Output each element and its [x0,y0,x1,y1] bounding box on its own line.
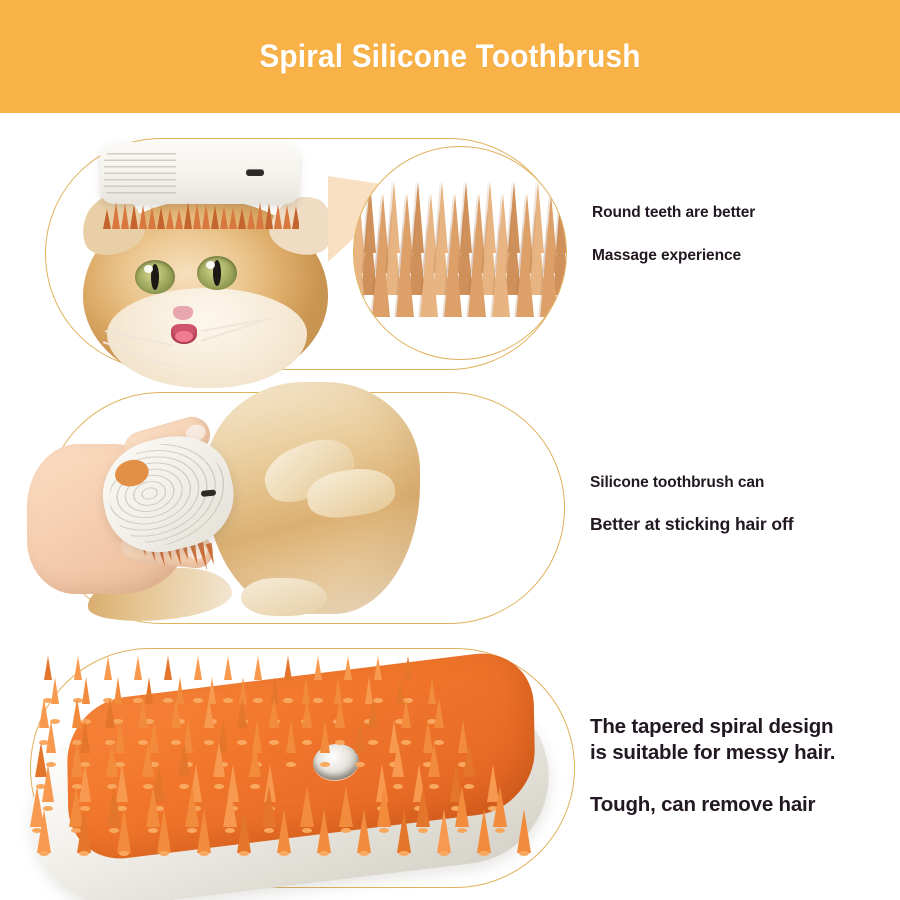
panel-round-teeth-image [45,138,565,370]
brush-device-body [100,142,300,204]
spike [213,742,225,777]
spike [392,742,404,777]
magnifier-inset [353,146,567,360]
spike [157,809,171,853]
spike [428,742,440,777]
panel-sticking-hair-image [45,392,565,624]
spike [74,656,82,680]
spike [401,698,411,728]
spike [134,656,142,680]
spike [117,809,131,853]
spike [82,677,90,704]
panel-1-line-2: Massage experience [592,247,741,265]
spike [197,809,211,853]
spike [416,786,430,827]
spike [262,786,276,827]
spike [434,698,444,728]
brush-grip-ridges [104,148,176,198]
product-infographic: Spiral Silicone Toothbrush Round teeth a… [0,0,900,900]
spike [249,742,261,777]
spike [493,786,507,827]
spike [344,656,352,680]
panel-tapered-spiral-image [30,648,575,888]
spike [51,677,59,704]
spike [204,698,214,728]
spike [254,656,262,680]
brush-bristles [103,201,299,229]
spike [377,786,391,827]
spike [335,698,345,728]
spike [77,809,91,853]
panel-1-line-1: Round teeth are better [592,204,755,222]
usb-port-icon [246,169,264,176]
spike [517,809,531,853]
spike [339,786,353,827]
spike [300,786,314,827]
header-banner: Spiral Silicone Toothbrush [0,0,900,113]
cat-eye-right [197,256,237,290]
spike [224,656,232,680]
spike [317,809,331,853]
spike [223,786,237,827]
spike [171,698,181,728]
panel-2-line-2: Better at sticking hair off [590,514,793,535]
panel-3-line-1: The tapered spiral design is suitable fo… [590,714,835,766]
spike [164,656,172,680]
spike [138,698,148,728]
spike [277,809,291,853]
spike [286,720,296,753]
spike [404,656,412,680]
spike [314,656,322,680]
spike [355,720,365,753]
spike [105,698,115,728]
panel-3-line-2: Tough, can remove hair [590,792,815,818]
spike [269,698,279,728]
spike [357,809,371,853]
spike [477,809,491,853]
spike [178,742,190,777]
spike [302,698,312,728]
spike [104,656,112,680]
panel-2-line-1: Silicone toothbrush can [590,474,764,492]
spike [320,720,330,753]
spike [284,656,292,680]
spike [237,698,247,728]
spike [237,809,251,853]
spike [437,809,451,853]
spike [397,809,411,853]
spike [455,786,469,827]
cat-nose [173,306,193,320]
cat-mouth [171,324,197,344]
cat-eye-left [135,260,175,294]
spike [37,809,51,853]
spike [368,698,378,728]
page-title: Spiral Silicone Toothbrush [259,38,640,75]
spike [194,656,202,680]
spike [463,742,475,777]
spike [374,656,382,680]
cat-hind-foot [241,578,327,616]
spike [46,720,56,753]
